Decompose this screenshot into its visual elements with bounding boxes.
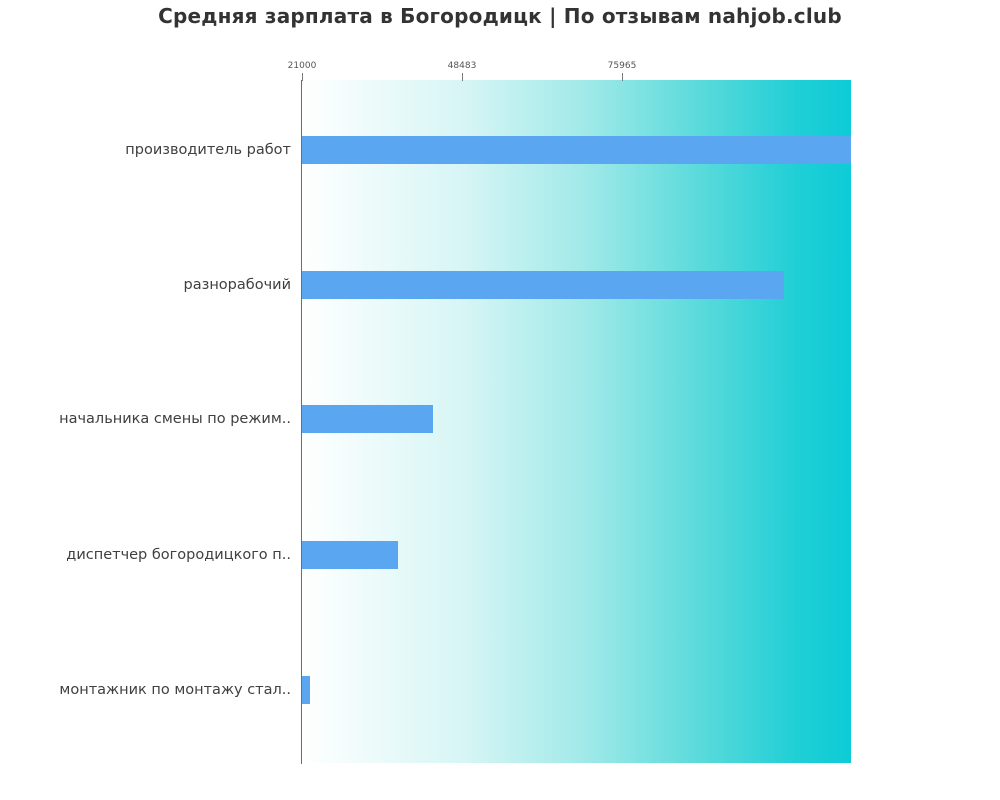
bar[interactable] [302,541,398,569]
x-tick-mark [302,73,303,81]
x-tick-mark [622,73,623,81]
category-label: диспетчер богородицкого п.. [66,547,291,563]
chart-container: Средняя зарплата в Богородицк | По отзыв… [0,0,1000,800]
category-label: производитель работ [125,142,291,158]
category-label: монтажник по монтажу стал.. [59,682,291,698]
bar[interactable] [302,271,784,299]
bar[interactable] [302,405,433,433]
bar[interactable] [302,136,851,164]
x-tick-label: 21000 [288,61,317,71]
category-label: начальника смены по режим.. [59,411,291,427]
x-tick-label: 75965 [608,61,637,71]
bar[interactable] [302,676,310,704]
chart-title: Средняя зарплата в Богородицк | По отзыв… [0,4,1000,28]
x-tick-label: 48483 [448,61,477,71]
category-label: разнорабочий [184,277,291,293]
x-tick-mark [462,73,463,81]
